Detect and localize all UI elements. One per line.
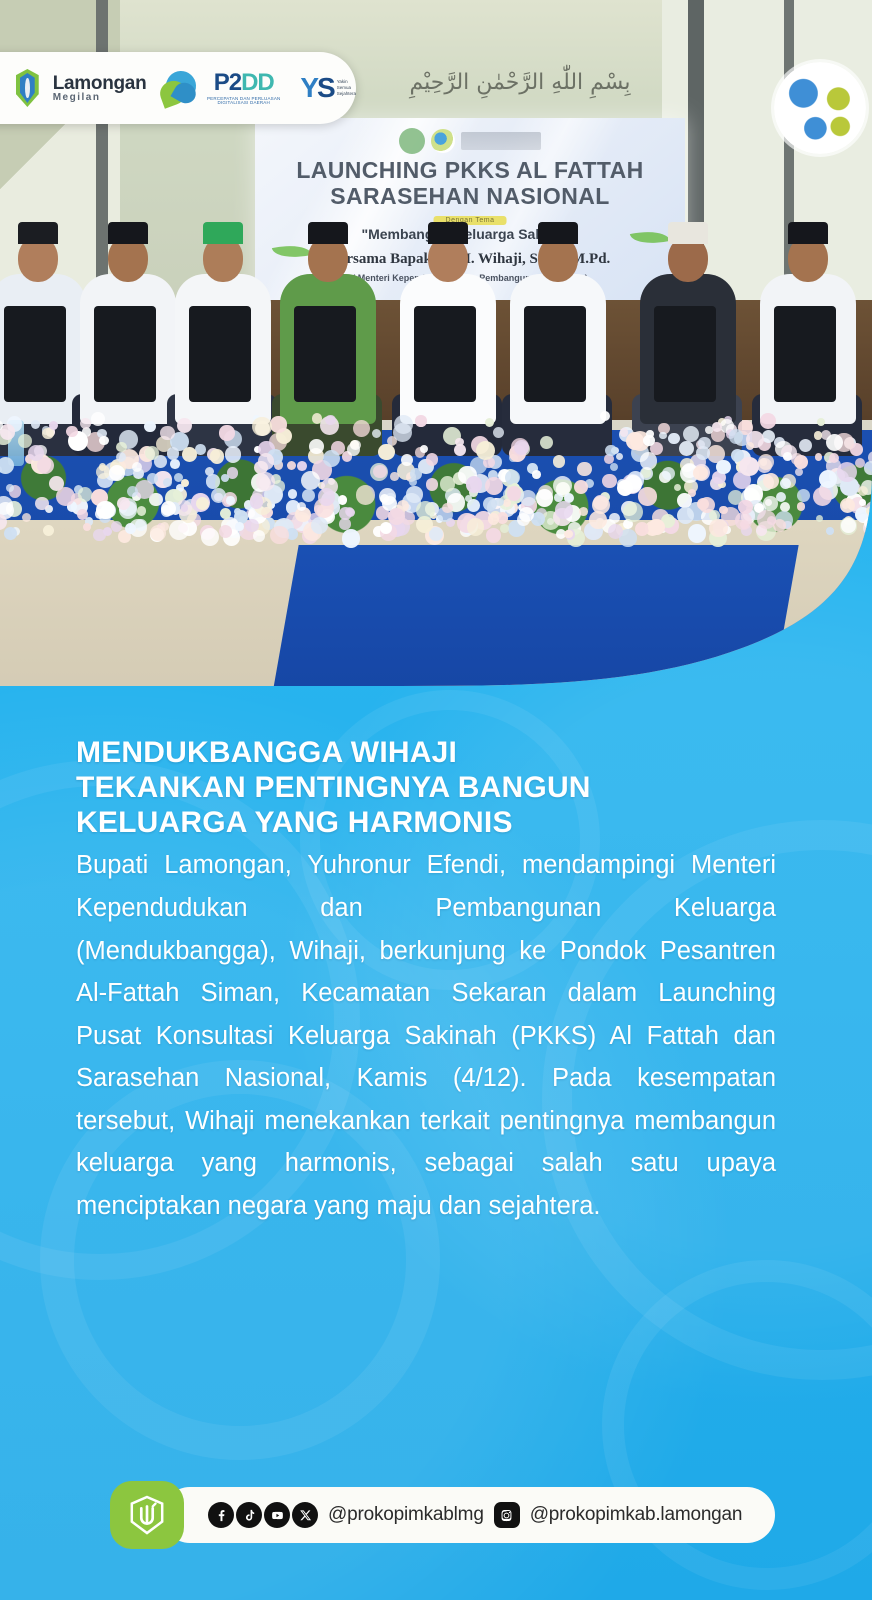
article-block: MENDUKBANGGA WIHAJI TEKANKAN PENTINGNYA …	[76, 736, 776, 1228]
p2dd-logo: P2DD PERCEPATAN DAN PERLUASAN DIGITALISA…	[201, 71, 286, 106]
circular-emblem-icon	[774, 62, 866, 154]
headline-line-3: KELUARGA YANG HARMONIS	[76, 806, 776, 841]
p2dd-mark: P2DD	[201, 71, 286, 95]
handle-main[interactable]: @prokopimkablmg	[328, 1504, 484, 1526]
social-icon-group	[208, 1502, 318, 1528]
handle-instagram[interactable]: @prokopimkab.lamongan	[530, 1504, 743, 1526]
tiktok-icon[interactable]	[236, 1502, 262, 1528]
ys-logo: YS Yakin Semua Sejahtera	[300, 74, 356, 102]
wall-column-left	[96, 0, 108, 300]
logo-circle-icon	[399, 128, 425, 154]
p2dd-subtext: PERCEPATAN DAN PERLUASAN DIGITALISASI DA…	[201, 97, 286, 106]
lamongan-wordmark-line2: Megilan	[53, 93, 147, 103]
ys-mark: YS	[300, 74, 333, 102]
social-media-poster: بِسْمِ اللّٰهِ الرَّحْمٰنِ الرَّحِيْمِ L…	[0, 0, 872, 1600]
arabic-calligraphy: بِسْمِ اللّٰهِ الرَّحْمٰنِ الرَّحِيْمِ	[400, 70, 640, 112]
x-twitter-icon[interactable]	[292, 1502, 318, 1528]
article-body: Bupati Lamongan, Yuhronur Efendi, mendam…	[76, 844, 776, 1227]
ministry-logo-icon	[431, 129, 455, 153]
article-headline: MENDUKBANGGA WIHAJI TEKANKAN PENTINGNYA …	[76, 736, 776, 840]
ys-subtext: Yakin Semua Sejahtera	[337, 79, 356, 97]
social-footer: @prokopimkablmg @prokopimkab.lamongan	[110, 1487, 775, 1543]
banner-header-logos	[399, 128, 541, 154]
brand-logo-bar: Lamongan Megilan P2DD PERCEPATAN DAN PER…	[0, 52, 356, 124]
headline-line-1: MENDUKBANGGA WIHAJI	[76, 736, 776, 771]
youtube-icon[interactable]	[264, 1502, 290, 1528]
facebook-icon[interactable]	[208, 1502, 234, 1528]
headline-line-2: TEKANKAN PENTINGNYA BANGUN	[76, 771, 776, 806]
lamongan-monogram-icon	[110, 1481, 184, 1549]
lamongan-wordmark: Lamongan Megilan	[53, 74, 147, 103]
instagram-icon[interactable]	[494, 1502, 520, 1528]
flower-arrangement	[0, 390, 872, 550]
lamongan-wordmark-line1: Lamongan	[53, 74, 147, 93]
lamongan-crest-icon	[16, 69, 39, 107]
banner-title-line2: SARASEHAN NASIONAL	[255, 184, 685, 208]
ministry-wordmark	[461, 132, 541, 150]
wave-swirl-icon	[160, 69, 187, 107]
banner-title-line1: LAUNCHING PKKS AL FATTAH	[255, 158, 685, 182]
social-handles-pill: @prokopimkablmg @prokopimkab.lamongan	[162, 1487, 775, 1543]
